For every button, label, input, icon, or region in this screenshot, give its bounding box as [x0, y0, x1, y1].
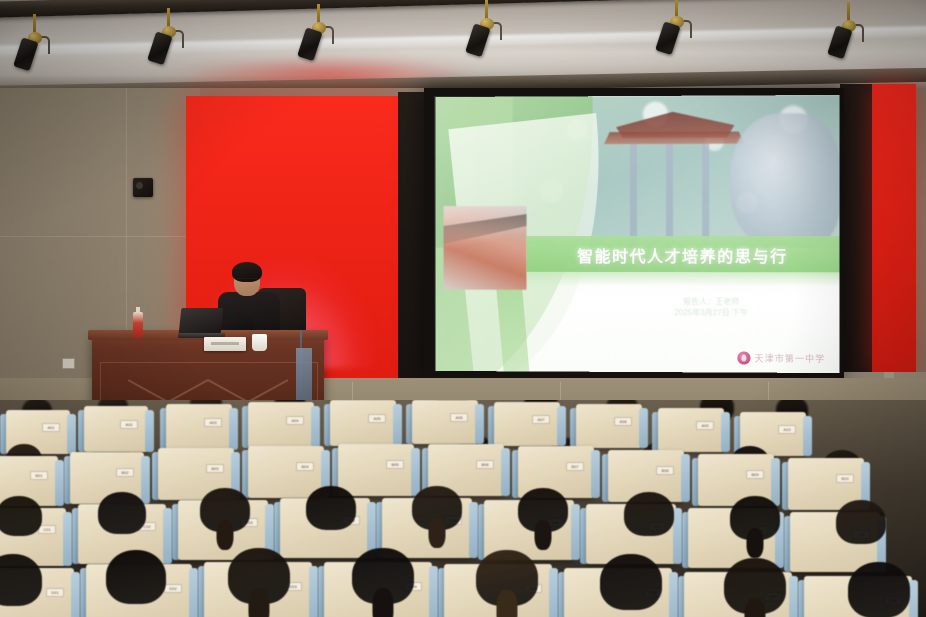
seat-number-plate: B03	[206, 464, 224, 473]
auditorium-seat[interactable]: B05	[338, 444, 414, 496]
seat-side-panel	[557, 406, 566, 446]
seat-side-panel	[67, 414, 76, 454]
seat-number-plate: A06	[450, 413, 468, 422]
slide-photo-rock	[730, 113, 839, 248]
spotlight-icon	[302, 4, 336, 62]
seat-side-panel	[411, 448, 420, 496]
power-outlet-icon	[62, 358, 75, 369]
auditorium-seat[interactable]: A03	[166, 404, 232, 450]
seat-side-panel	[163, 508, 172, 564]
seat-back	[576, 404, 642, 448]
slide-photo-pavilion-eave	[604, 132, 744, 145]
audience-member	[306, 486, 356, 530]
lighting-truss	[0, 0, 926, 18]
seat-number-plate: C01	[38, 525, 56, 534]
water-bottle	[133, 312, 143, 338]
slide-inset-photo	[444, 206, 527, 290]
spotlight-barrel	[465, 23, 490, 57]
seat-number-plate: B09	[746, 470, 764, 479]
wall-seam-horizontal	[0, 236, 200, 237]
seat-number-plate: B02	[116, 468, 134, 477]
slide-title: 智能时代人才培养的思与行	[527, 242, 840, 268]
slide-school-logo: 天津市第一中学	[737, 351, 825, 364]
audience-head	[600, 554, 662, 610]
seat-side-panel	[571, 504, 580, 560]
seat-side-panel	[393, 404, 402, 446]
seat-back	[338, 444, 414, 496]
seat-number-plate: A02	[120, 420, 138, 429]
seat-side-panel	[189, 568, 198, 617]
seat-number-plate: A03	[204, 418, 222, 427]
seat-number-plate: A01	[42, 423, 60, 432]
audience-member	[836, 500, 886, 544]
audience-area: A01A02A03A04A05A06A07A08A09A10B01B02B03B…	[0, 400, 926, 617]
wall-loudspeaker-icon	[133, 178, 153, 197]
seat-back	[84, 406, 148, 452]
audience-hair-tail	[496, 590, 517, 617]
audience-member	[412, 486, 462, 530]
podium-side-equipment	[296, 348, 312, 400]
laptop-screen	[179, 308, 224, 334]
slide-inset-roofline	[444, 214, 527, 244]
podium-nameplate	[204, 337, 246, 351]
seat-back	[248, 446, 324, 498]
seat-number-plate: A08	[614, 417, 632, 426]
auditorium-seat[interactable]: A02	[84, 406, 148, 452]
seat-side-panel	[469, 502, 478, 558]
audience-member	[848, 562, 910, 617]
auditorium-seat[interactable]: A08	[576, 404, 642, 448]
seat-side-panel	[141, 456, 150, 504]
led-panel-right	[872, 84, 916, 374]
ceiling-light-strip	[0, 25, 926, 56]
auditorium-seat[interactable]: A07	[494, 402, 560, 446]
audience-hair-tail	[372, 588, 393, 617]
seat-back	[166, 404, 232, 450]
auditorium-seat[interactable]: A06	[412, 400, 478, 444]
audience-head	[836, 500, 886, 544]
seat-side-panel	[673, 508, 682, 564]
audience-member	[600, 554, 662, 610]
audience-head	[0, 496, 42, 536]
seat-back	[248, 402, 314, 448]
audience-hair-tail	[248, 588, 269, 617]
paper-cup	[252, 334, 267, 351]
spotlight-barrel	[655, 21, 680, 55]
audience-head	[0, 554, 42, 606]
seat-number-plate: A09	[696, 421, 714, 430]
audience-head	[98, 492, 146, 534]
slide-title-band-fade	[527, 272, 840, 287]
seat-side-panel	[501, 448, 510, 496]
seat-number-plate: B05	[386, 460, 404, 469]
spotlight-icon	[660, 0, 694, 56]
audience-member	[106, 550, 166, 604]
slide-logo-text: 天津市第一中学	[754, 352, 825, 365]
slide-subtitle-line2: 2025年3月27日 下午	[584, 307, 839, 319]
seat-side-panel	[669, 572, 678, 617]
seat-number-plate: B10	[836, 474, 854, 483]
slide-photo-pillar	[630, 144, 637, 248]
slide-photo-pillar	[702, 144, 709, 248]
seat-side-panel	[771, 458, 780, 506]
spotlight-icon	[832, 2, 866, 60]
ceiling	[0, 0, 926, 96]
audience-member	[0, 496, 42, 536]
seat-side-panel	[429, 566, 438, 617]
seat-number-plate: B06	[476, 460, 494, 469]
spotlight-barrel	[147, 31, 172, 65]
presenter-glasses-icon	[236, 278, 258, 284]
audience-member	[0, 554, 42, 606]
seat-back	[658, 408, 724, 452]
seat-side-panel	[721, 412, 730, 452]
seat-side-panel	[55, 460, 64, 506]
seat-side-panel	[63, 512, 72, 566]
seat-number-plate: B01	[30, 471, 48, 480]
auditorium-scene: 智能时代人才培养的思与行 报告人：王老师 2025年3月27日 下午 天津市第一…	[0, 0, 926, 617]
seat-side-panel	[909, 580, 918, 617]
audience-member	[228, 548, 290, 604]
seat-number-plate: A10	[778, 425, 796, 434]
seat-side-panel	[309, 566, 318, 617]
seat-number-plate: D01	[46, 588, 64, 597]
audience-hair-tail	[535, 520, 552, 551]
audience-member	[724, 558, 786, 614]
seat-number-plate: B07	[566, 462, 584, 471]
auditorium-seat[interactable]: A09	[658, 408, 724, 452]
seat-back	[494, 402, 560, 446]
slide-subtitle-line1: 报告人：王老师	[584, 296, 839, 308]
seat-side-panel	[311, 406, 320, 448]
seat-side-panel	[789, 576, 798, 617]
seat-number-plate: B08	[656, 466, 674, 475]
slide-subtitle: 报告人：王老师 2025年3月27日 下午	[584, 296, 839, 319]
seat-back	[330, 400, 396, 446]
audience-head	[106, 550, 166, 604]
spotlight-icon	[18, 14, 52, 72]
seat-number-plate: D02	[164, 584, 182, 593]
audience-member	[200, 488, 250, 532]
audience-member	[518, 488, 568, 532]
audience-member	[98, 492, 146, 534]
seat-side-panel	[475, 404, 484, 444]
seat-number-plate: A05	[368, 414, 386, 423]
seat-number-plate: A04	[286, 416, 304, 425]
seat-side-panel	[639, 408, 648, 448]
spotlight-barrel	[13, 37, 38, 71]
audience-hair-tail	[217, 520, 234, 551]
audience-member	[730, 496, 780, 540]
audience-hair-tail	[429, 518, 446, 549]
seat-side-panel	[145, 410, 154, 452]
seat-number-plate: B04	[296, 462, 314, 471]
audience-head	[306, 486, 356, 530]
school-emblem-icon	[737, 351, 750, 364]
auditorium-seat[interactable]: A04	[248, 402, 314, 448]
spotlight-icon	[152, 8, 186, 66]
audience-hair-tail	[747, 528, 764, 559]
spotlight-icon	[470, 0, 504, 58]
projection-screen[interactable]: 智能时代人才培养的思与行 报告人：王老师 2025年3月27日 下午 天津市第一…	[436, 95, 840, 373]
laptop[interactable]	[178, 308, 224, 338]
seat-back	[412, 400, 478, 444]
auditorium-seat[interactable]: B04	[248, 446, 324, 498]
seat-number-plate: A07	[532, 415, 550, 424]
audience-member	[624, 492, 674, 536]
audience-member	[352, 548, 414, 604]
right-dark-panel	[840, 84, 874, 376]
audience-head	[624, 492, 674, 536]
seat-side-panel	[681, 454, 690, 502]
slide-photo-pillar	[666, 144, 673, 248]
spotlight-barrel	[297, 27, 322, 61]
seat-side-panel	[803, 416, 812, 456]
seat-side-panel	[591, 450, 600, 498]
seat-side-panel	[549, 568, 558, 617]
audience-member	[476, 550, 538, 606]
audience-head	[848, 562, 910, 617]
seat-side-panel	[71, 572, 80, 617]
auditorium-seat[interactable]: A05	[330, 400, 396, 446]
seat-side-panel	[229, 408, 238, 450]
audience-hair-tail	[744, 598, 765, 617]
